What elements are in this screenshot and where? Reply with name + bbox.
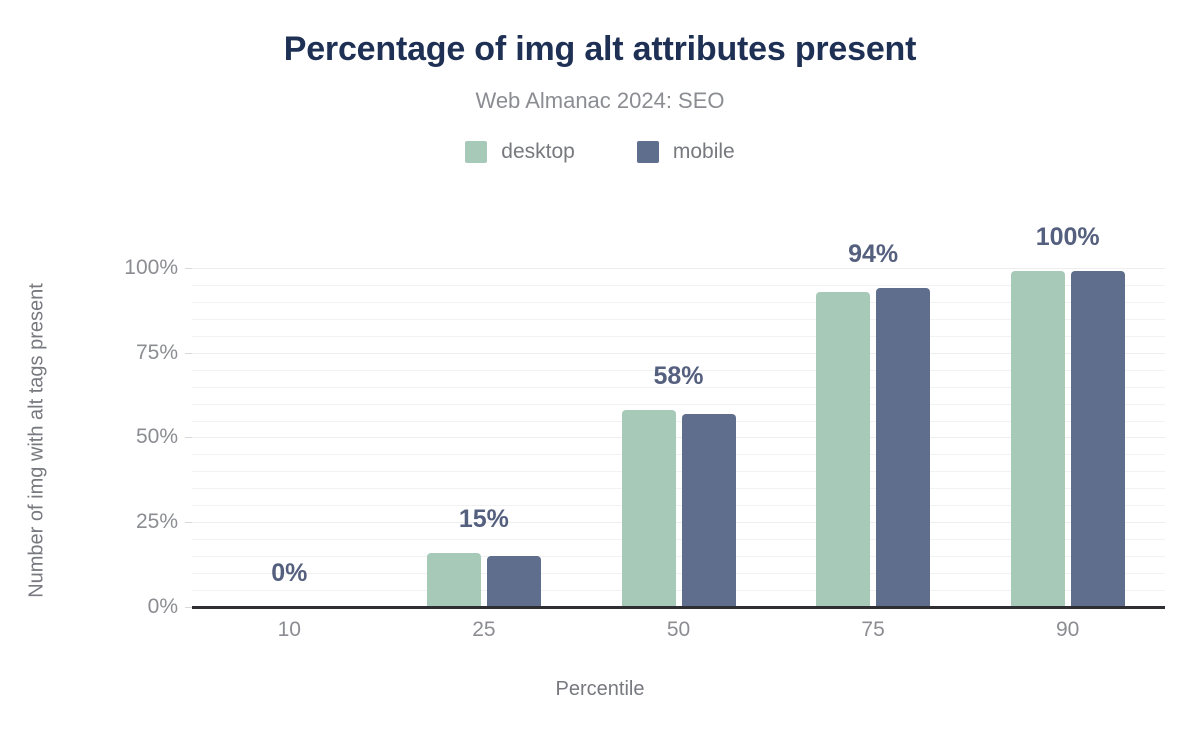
y-axis-title: Number of img with alt tags present (26, 271, 49, 611)
bar-desktop-p25[interactable] (427, 553, 481, 607)
chart-legend: desktop mobile (0, 140, 1200, 164)
chart-title: Percentage of img alt attributes present (0, 30, 1200, 69)
bar-mobile-p90[interactable] (1071, 271, 1125, 607)
data-label-p10: 0% (189, 559, 389, 588)
y-tick-label: 50% (98, 425, 178, 449)
y-tick-label: 75% (98, 341, 178, 365)
x-tick-label: 90 (988, 618, 1148, 642)
y-tick-label: 100% (98, 256, 178, 280)
y-tick-label: 0% (98, 595, 178, 619)
plot-area (192, 251, 1165, 607)
legend-label-mobile: mobile (673, 140, 735, 164)
chart-subtitle: Web Almanac 2024: SEO (0, 88, 1200, 114)
bar-mobile-p75[interactable] (876, 288, 930, 607)
x-tick-label: 50 (599, 618, 759, 642)
x-tick-label: 10 (209, 618, 369, 642)
data-label-p50: 58% (579, 362, 779, 391)
bar-desktop-p50[interactable] (622, 410, 676, 607)
data-label-p75: 94% (773, 240, 973, 269)
legend-swatch-mobile (637, 141, 659, 163)
y-tick-label: 25% (98, 510, 178, 534)
data-label-p25: 15% (384, 505, 584, 534)
bar-mobile-p25[interactable] (487, 556, 541, 607)
legend-label-desktop: desktop (501, 140, 575, 164)
gridline (192, 268, 1165, 269)
chart-container: Percentage of img alt attributes present… (0, 0, 1200, 742)
legend-item-desktop[interactable]: desktop (465, 140, 575, 164)
x-tick-label: 25 (404, 618, 564, 642)
legend-item-mobile[interactable]: mobile (637, 140, 735, 164)
x-axis-title: Percentile (0, 678, 1200, 701)
x-tick-label: 75 (793, 618, 953, 642)
bar-desktop-p90[interactable] (1011, 271, 1065, 607)
data-label-p90: 100% (968, 223, 1168, 252)
x-axis-line (192, 606, 1165, 609)
bar-desktop-p75[interactable] (816, 292, 870, 607)
legend-swatch-desktop (465, 141, 487, 163)
bar-mobile-p50[interactable] (682, 414, 736, 607)
